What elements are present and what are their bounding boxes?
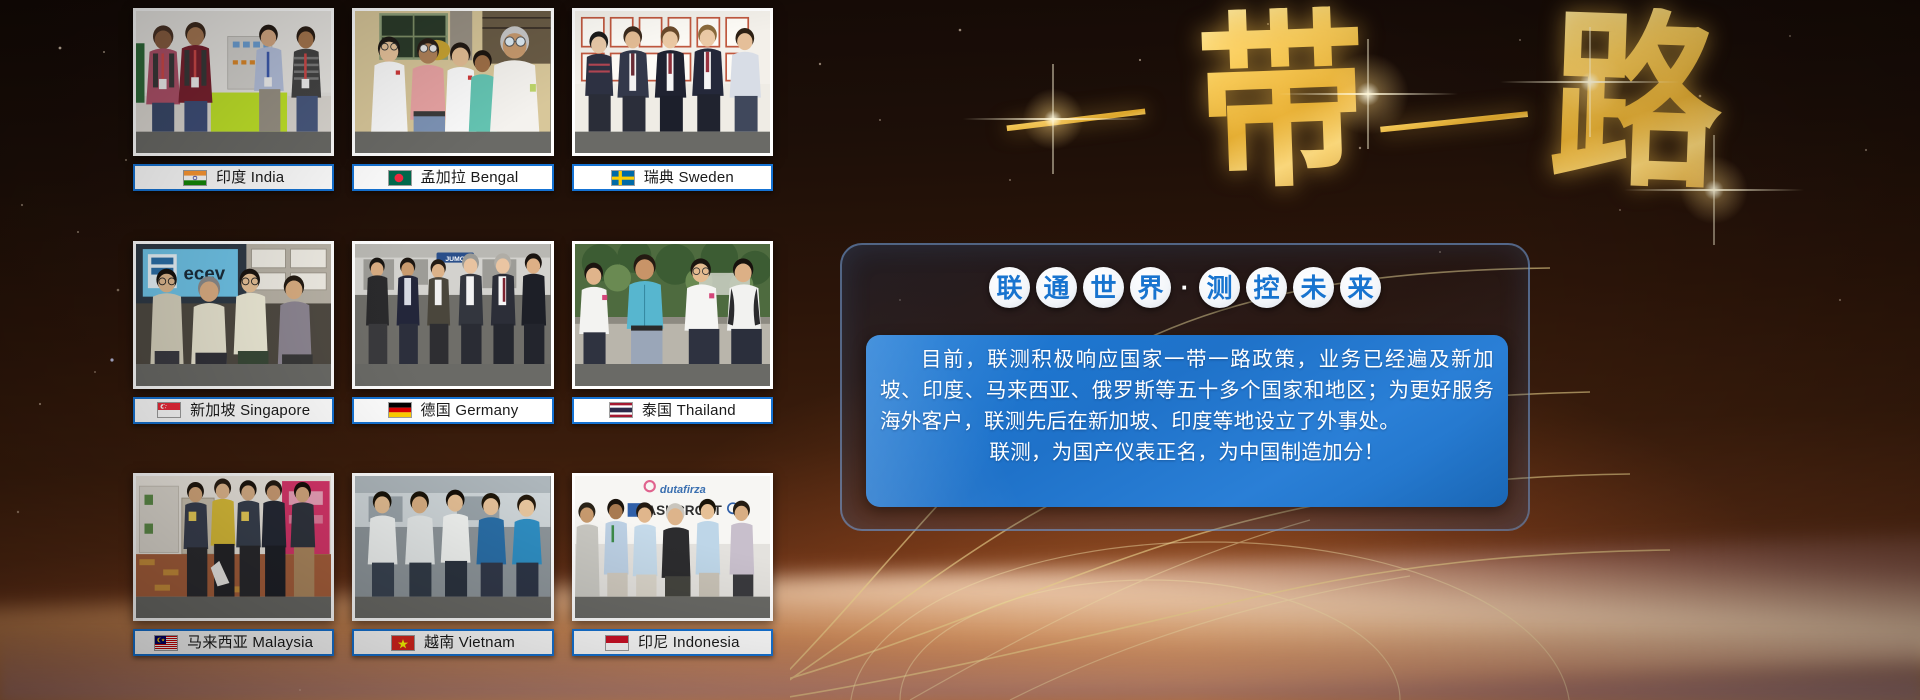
gallery-card-vietnam[interactable]: 越南 Vietnam (352, 473, 553, 698)
country-tag[interactable]: 新加坡 Singapore (133, 397, 334, 424)
country-tag[interactable]: 德国 Germany (352, 397, 553, 424)
photo-vietnam (355, 476, 550, 618)
gallery-card-india[interactable]: 印度 India (133, 8, 334, 233)
slogan-char-kong: 控 (1246, 267, 1287, 308)
country-tag-label: 泰国 Thailand (642, 403, 736, 418)
flag-india-icon (183, 170, 207, 186)
gallery-card-thailand[interactable]: 泰国 Thailand (572, 241, 773, 466)
flag-thailand-icon (609, 402, 633, 418)
flag-malaysia-icon (154, 635, 178, 651)
country-tag[interactable]: 印度 India (133, 164, 334, 191)
photo-frame (352, 473, 553, 621)
country-tag-label: 越南 Vietnam (424, 635, 515, 650)
title-char-2: 带 (1195, 5, 1369, 199)
gallery-card-singapore[interactable]: ecev (133, 241, 334, 466)
photo-bengal (355, 11, 550, 153)
slogan-char-lian: 联 (989, 267, 1030, 308)
photo-frame: JUMO (352, 241, 553, 389)
flag-sweden-icon (611, 170, 635, 186)
gallery-card-malaysia[interactable]: 马来西亚 Malaysia (133, 473, 334, 698)
title-char-4: 路 (1547, 4, 1725, 199)
title-char-1: 一 (1000, 88, 1152, 156)
country-tag[interactable]: 印尼 Indonesia (572, 629, 773, 656)
country-tag-label: 马来西亚 Malaysia (187, 635, 313, 650)
country-tag-label: 瑞典 Sweden (644, 170, 734, 185)
slogan-char-jie: 界 (1130, 267, 1171, 308)
photo-singapore: ecev (136, 244, 331, 386)
country-tag[interactable]: 泰国 Thailand (572, 397, 773, 424)
slogan-row: 联 通 世 界 · 测 控 未 来 (842, 267, 1528, 308)
slogan-char-shi: 世 (1083, 267, 1124, 308)
photo-frame (133, 8, 334, 156)
photo-sweden (575, 11, 770, 153)
photo-india (136, 11, 331, 153)
country-tag-label: 孟加拉 Bengal (421, 170, 519, 185)
description-box: 目前，联测积极响应国家一带一路政策，业务已经遍及新加坡、印度、马来西亚、俄罗斯等… (866, 335, 1508, 507)
photo-indonesia: dutafirza ASHCROFT (575, 476, 770, 618)
gallery-card-indonesia[interactable]: dutafirza ASHCROFT (572, 473, 773, 698)
gallery-card-bengal[interactable]: 孟加拉 Bengal (352, 8, 553, 233)
photo-frame (572, 8, 773, 156)
country-tag[interactable]: 越南 Vietnam (352, 629, 553, 656)
country-tag-label: 德国 Germany (421, 403, 519, 418)
slogan-char-wei: 未 (1293, 267, 1334, 308)
photo-frame (352, 8, 553, 156)
flag-germany-icon (388, 402, 412, 418)
slogan-char-lai: 来 (1340, 267, 1381, 308)
flag-bangladesh-icon (388, 170, 412, 186)
title-char-3: 一 (1374, 91, 1535, 158)
description-slogan-line: 联测，为国产仪表正名，为中国制造加分！ (880, 437, 1494, 468)
flag-singapore-icon (157, 402, 181, 418)
photo-germany: JUMO (355, 244, 550, 386)
description-paragraph: 目前，联测积极响应国家一带一路政策，业务已经遍及新加坡、印度、马来西亚、俄罗斯等… (880, 344, 1494, 437)
photo-frame (572, 241, 773, 389)
slogan-separator: · (1177, 272, 1193, 303)
gallery-card-sweden[interactable]: 瑞典 Sweden (572, 8, 773, 233)
country-tag[interactable]: 瑞典 Sweden (572, 164, 773, 191)
country-tag-label: 印度 India (216, 170, 284, 185)
photo-frame: dutafirza ASHCROFT (572, 473, 773, 621)
flag-vietnam-icon (391, 635, 415, 651)
belt-and-road-title: 一 带 一 路 (1030, 14, 1750, 204)
gallery-card-germany[interactable]: JUMO (352, 241, 553, 466)
slogan-char-tong: 通 (1036, 267, 1077, 308)
banner-stage: 印度 India (0, 0, 1920, 700)
photo-malaysia (136, 476, 331, 618)
photo-thailand (575, 244, 770, 386)
slogan-char-ce: 测 (1199, 267, 1240, 308)
country-tag-label: 印尼 Indonesia (638, 635, 740, 650)
svg-text:dutafirza: dutafirza (660, 484, 706, 496)
flag-indonesia-icon (605, 635, 629, 651)
info-panel: 联 通 世 界 · 测 控 未 来 目前，联测积极响应国家一带一路政策，业务已经… (840, 243, 1530, 531)
country-tag[interactable]: 孟加拉 Bengal (352, 164, 553, 191)
photo-frame (133, 473, 334, 621)
photo-frame: ecev (133, 241, 334, 389)
country-photo-grid: 印度 India (133, 8, 773, 698)
right-content-area: 一 带 一 路 联 通 世 界 · 测 控 未 来 目前，联测 (790, 0, 1920, 700)
country-tag-label: 新加坡 Singapore (190, 403, 310, 418)
country-tag[interactable]: 马来西亚 Malaysia (133, 629, 334, 656)
